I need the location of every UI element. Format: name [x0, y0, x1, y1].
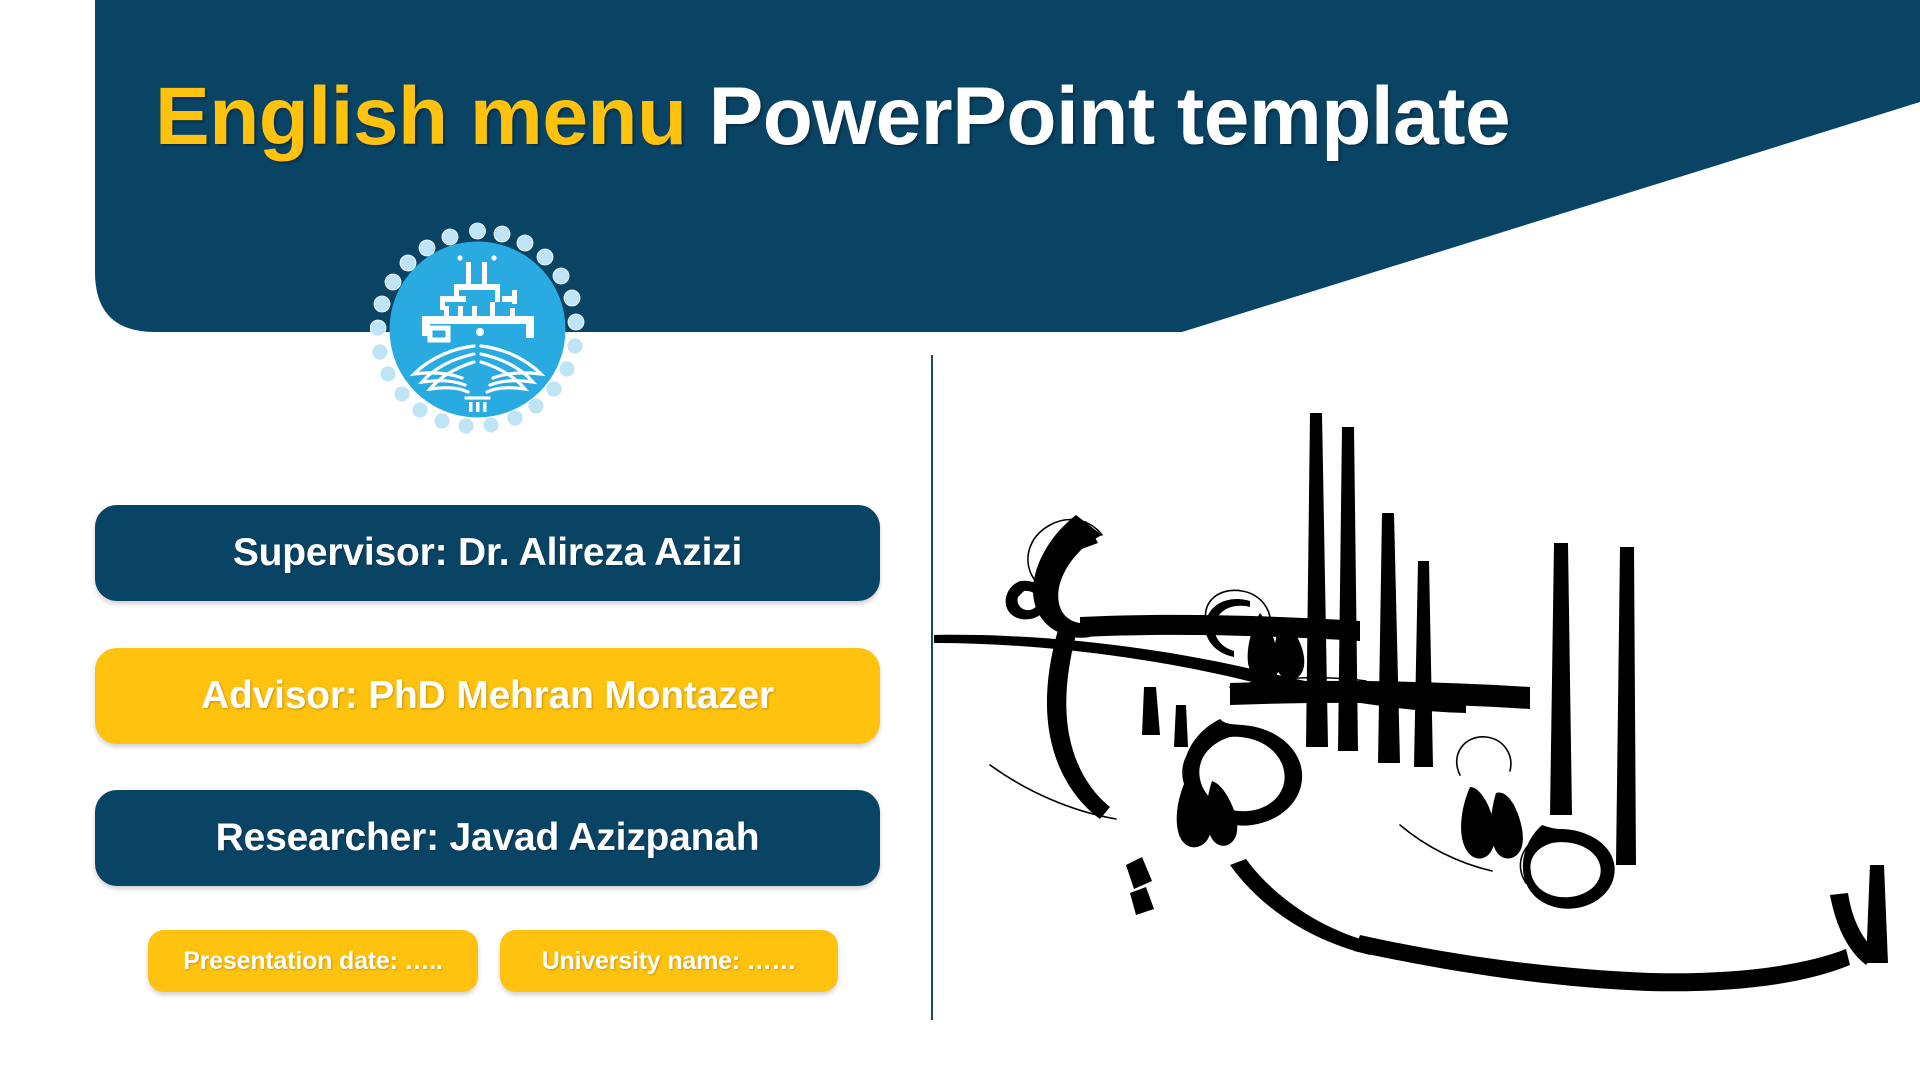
bismillah-calligraphy-icon — [930, 395, 1920, 1035]
page-title: English menu PowerPoint template — [155, 62, 1555, 172]
presentation-date-pill[interactable]: Presentation date: ….. — [148, 930, 478, 992]
slide-canvas: English menu PowerPoint template — [0, 0, 1920, 1080]
credit-researcher-label: Researcher: Javad Azizpanah — [216, 816, 760, 860]
credit-researcher[interactable]: Researcher: Javad Azizpanah — [95, 790, 880, 886]
credit-advisor[interactable]: Advisor: PhD Mehran Montazer — [95, 648, 880, 744]
university-name-label: University name: …… — [542, 947, 797, 976]
title-accent-text: English menu — [155, 76, 687, 158]
credit-supervisor[interactable]: Supervisor: Dr. Alireza Azizi — [95, 505, 880, 601]
university-logo-icon — [370, 222, 585, 437]
title-main-text: PowerPoint template — [709, 76, 1511, 158]
presentation-date-label: Presentation date: ….. — [183, 947, 443, 976]
credit-supervisor-label: Supervisor: Dr. Alireza Azizi — [233, 531, 742, 575]
credit-advisor-label: Advisor: PhD Mehran Montazer — [201, 674, 774, 718]
university-name-pill[interactable]: University name: …… — [500, 930, 838, 992]
